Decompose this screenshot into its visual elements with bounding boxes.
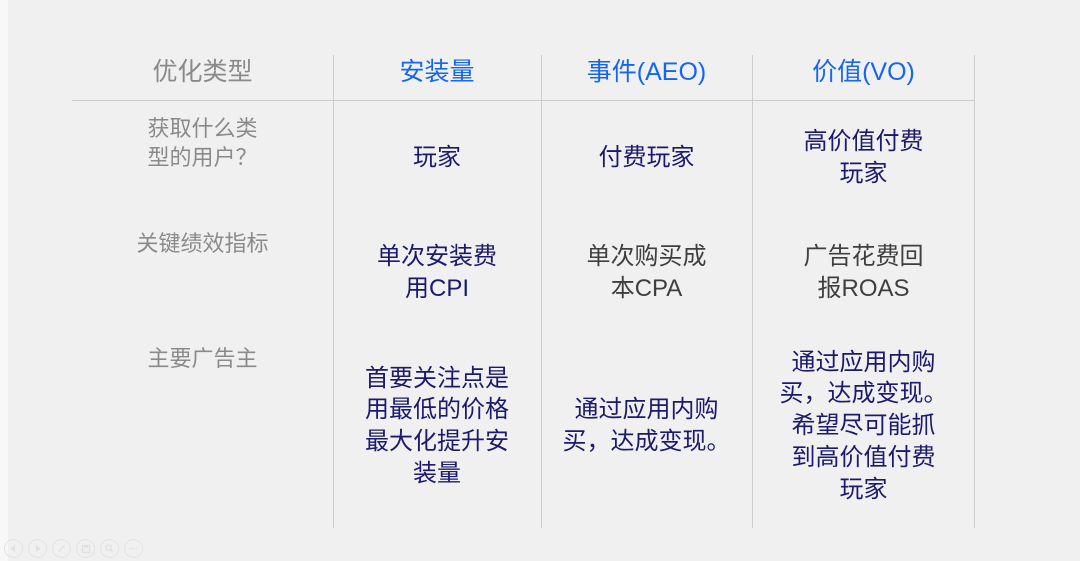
comparison-table: 优化类型 安装量 事件(AEO) 价值(VO) 获取什么类 型的用户？ 玩家 付… [72,44,975,522]
cell-vo-main-advertiser: 通过应用内购 买，达成变现。 希望尽可能抓 到高价值付费 玩家 [752,330,975,522]
cell-installs-main-advertiser: 首要关注点是 用最低的价格 最大化提升安 装量 [333,330,541,522]
cell-aeo-kpi: 单次购买成 本CPA [541,215,752,330]
pen-annotate-icon[interactable] [52,539,71,558]
magnify-icon[interactable] [100,539,119,558]
row-label-main-advertiser: 主要广告主 [72,330,333,522]
more-options-icon[interactable] [124,539,143,558]
slide-canvas: 优化类型 安装量 事件(AEO) 价值(VO) 获取什么类 型的用户？ 玩家 付… [0,0,1080,561]
previous-slide-icon[interactable] [4,539,23,558]
save-icon[interactable] [76,539,95,558]
table-header-vo: 价值(VO) [752,44,975,100]
cell-installs-kpi: 单次安装费 用CPI [333,215,541,330]
cell-installs-user-type: 玩家 [333,100,541,215]
cell-vo-user-type: 高价值付费 玩家 [752,100,975,215]
cell-aeo-user-type: 付费玩家 [541,100,752,215]
left-edge-strip [0,0,8,561]
row-label-user-type: 获取什么类 型的用户？ [72,100,333,215]
play-slide-icon[interactable] [28,539,47,558]
table-header-aeo: 事件(AEO) [541,44,752,100]
row-label-kpi: 关键绩效指标 [72,215,333,330]
table-header-installs: 安装量 [333,44,541,100]
cell-vo-kpi: 广告花费回 报ROAS [752,215,975,330]
cell-aeo-main-advertiser: 通过应用内购 买，达成变现。 [541,330,752,522]
slideshow-toolbar[interactable] [4,539,143,558]
table-header-optimization-type: 优化类型 [72,44,333,100]
